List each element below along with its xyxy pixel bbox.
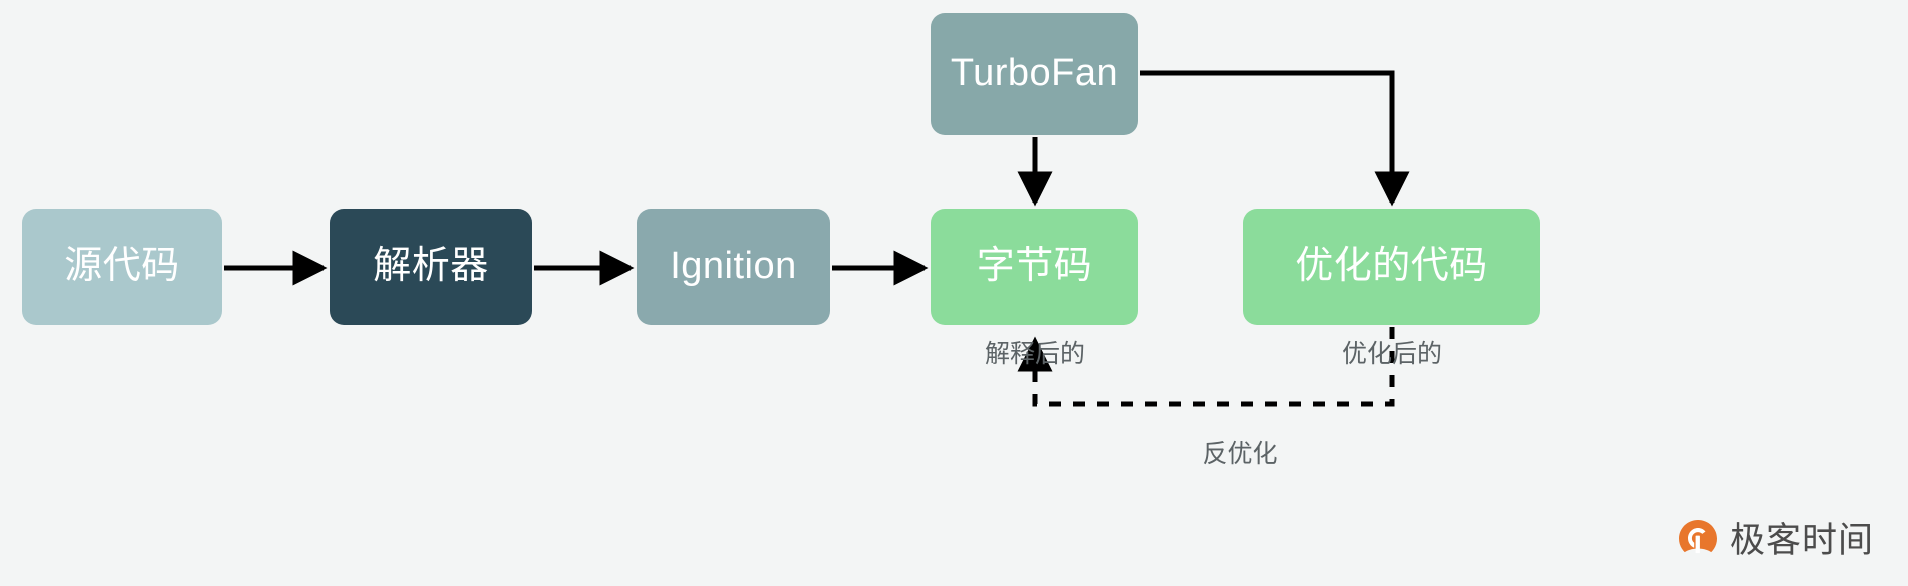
node-ignition[interactable]: Ignition (637, 209, 830, 325)
node-bytecode[interactable]: 字节码 (931, 209, 1138, 325)
edge-label-optimized: 优化后的 (1292, 334, 1492, 370)
node-parser[interactable]: 解析器 (330, 209, 532, 325)
node-parser-label: 解析器 (373, 246, 489, 288)
edge-label-deoptimize: 反优化 (1140, 434, 1340, 470)
node-source-code-label: 源代码 (64, 246, 180, 288)
geektime-logo-icon (1676, 518, 1720, 562)
watermark: 极客时间 (1676, 518, 1874, 562)
edge-label-interpreted: 解释后的 (935, 334, 1135, 370)
node-optimized-code-label: 优化的代码 (1295, 246, 1488, 288)
node-ignition-label: Ignition (670, 246, 797, 288)
edge-turbofan-to-optimized (1140, 73, 1392, 203)
diagram-canvas: 源代码 解析器 Ignition TurboFan 字节码 优化的代码 解释后的… (0, 0, 1908, 586)
node-turbofan-label: TurboFan (951, 53, 1118, 95)
node-bytecode-label: 字节码 (977, 246, 1093, 288)
node-optimized-code[interactable]: 优化的代码 (1243, 209, 1540, 325)
node-turbofan[interactable]: TurboFan (931, 13, 1138, 135)
node-source-code[interactable]: 源代码 (22, 209, 222, 325)
watermark-label: 极客时间 (1730, 523, 1874, 558)
